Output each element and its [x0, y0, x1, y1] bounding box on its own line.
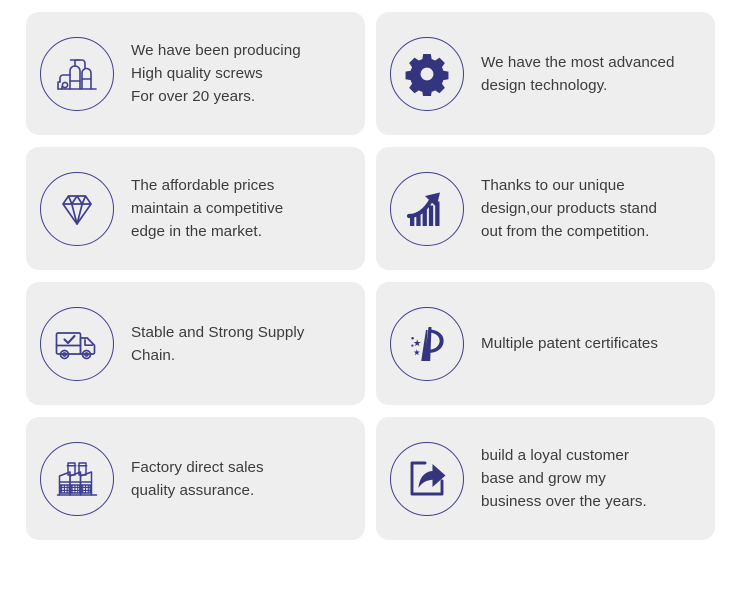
feature-text: Multiple patent certificates: [481, 332, 658, 355]
diamond-icon: [40, 172, 114, 246]
patent-logo-icon: [390, 307, 464, 381]
feature-text: Stable and Strong Supply Chain.: [131, 321, 304, 367]
feature-card-industrial-tanks[interactable]: We have been producing High quality scre…: [26, 12, 365, 135]
feature-grid: We have been producing High quality scre…: [26, 12, 723, 540]
feature-text: We have been producing High quality scre…: [131, 39, 301, 108]
feature-card-factory-direct[interactable]: Factory direct sales quality assurance.: [26, 417, 365, 540]
feature-card-supply-chain[interactable]: Stable and Strong Supply Chain.: [26, 282, 365, 405]
feature-card-affordable-prices[interactable]: The affordable prices maintain a competi…: [26, 147, 365, 270]
share-arrow-icon: [390, 442, 464, 516]
delivery-truck-icon: [40, 307, 114, 381]
feature-card-design-technology[interactable]: We have the most advanced design technol…: [376, 12, 715, 135]
feature-card-unique-design[interactable]: Thanks to our unique design,our products…: [376, 147, 715, 270]
feature-card-patent-certificates[interactable]: Multiple patent certificates: [376, 282, 715, 405]
industrial-tanks-icon: [40, 37, 114, 111]
gear-icon: [390, 37, 464, 111]
feature-text: Thanks to our unique design,our products…: [481, 174, 657, 243]
feature-card-loyal-customer-base[interactable]: build a loyal customer base and grow my …: [376, 417, 715, 540]
factory-icon: [40, 442, 114, 516]
feature-text: build a loyal customer base and grow my …: [481, 444, 647, 513]
feature-text: We have the most advanced design technol…: [481, 51, 674, 97]
feature-text: Factory direct sales quality assurance.: [131, 456, 264, 502]
feature-text: The affordable prices maintain a competi…: [131, 174, 283, 243]
growth-chart-icon: [390, 172, 464, 246]
